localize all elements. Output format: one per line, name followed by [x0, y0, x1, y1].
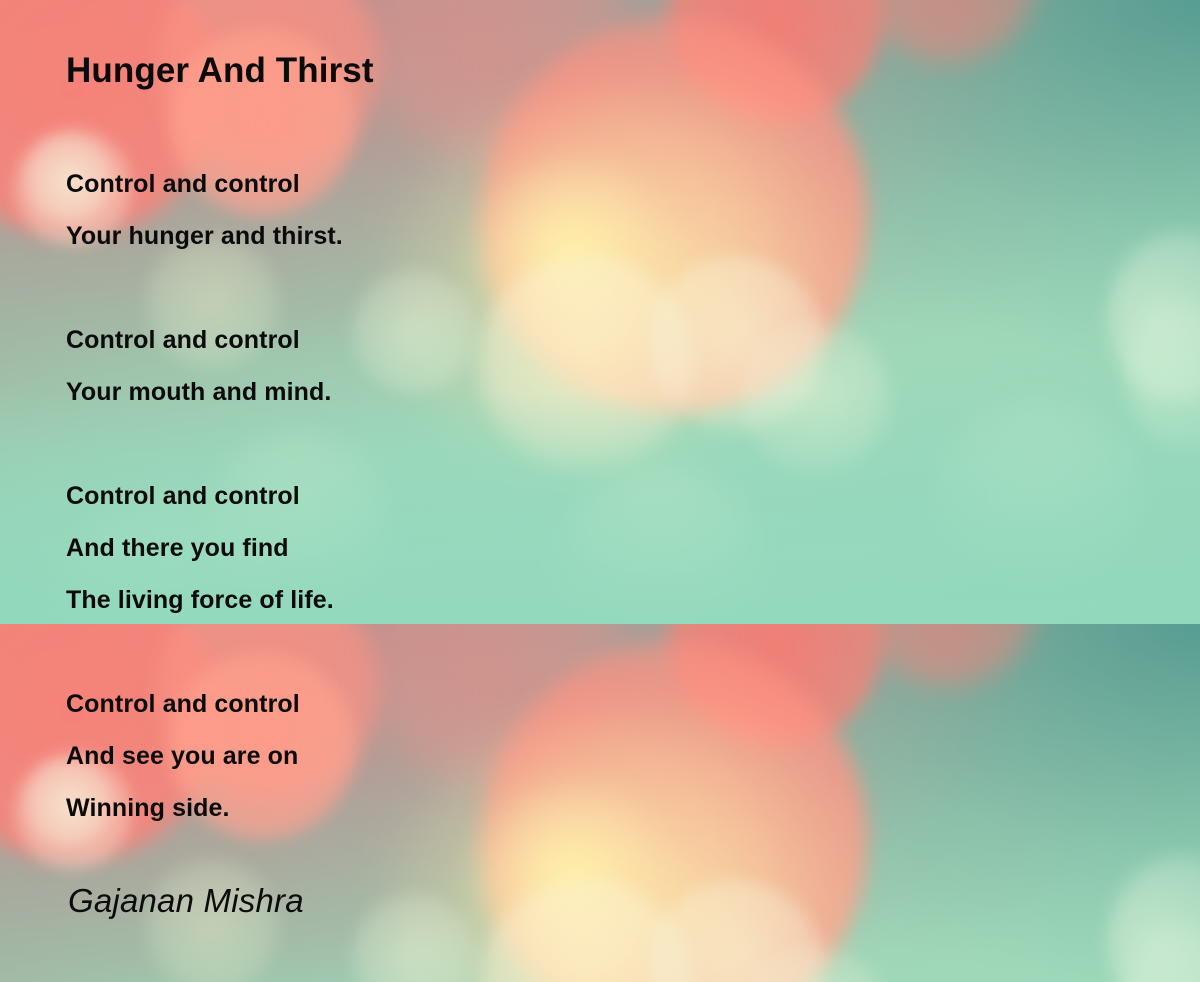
poem-stanza: Control and control Your mouth and mind. [66, 314, 766, 418]
poem-line: Control and control [66, 158, 766, 210]
poem-text-layer: Hunger And Thirst Control and control Yo… [0, 0, 1200, 982]
poem-line: Your hunger and thirst. [66, 210, 766, 262]
poem-line: Control and control [66, 470, 766, 522]
poem-author: Gajanan Mishra [68, 882, 304, 920]
poem-line: Control and control [66, 678, 766, 730]
poem-image-card: Hunger And Thirst Control and control Yo… [0, 0, 1200, 982]
poem-line: The living force of life. [66, 574, 766, 626]
poem-line: Control and control [66, 314, 766, 366]
poem-title: Hunger And Thirst [66, 52, 374, 91]
poem-line: And see you are on [66, 730, 766, 782]
poem-stanza: Control and control Your hunger and thir… [66, 158, 766, 262]
poem-line: And there you find [66, 522, 766, 574]
poem-stanza: Control and control And see you are on W… [66, 678, 766, 834]
poem-line: Winning side. [66, 782, 766, 834]
poem-line: Your mouth and mind. [66, 366, 766, 418]
poem-stanza: Control and control And there you find T… [66, 470, 766, 626]
poem-body: Control and control Your hunger and thir… [66, 158, 766, 834]
